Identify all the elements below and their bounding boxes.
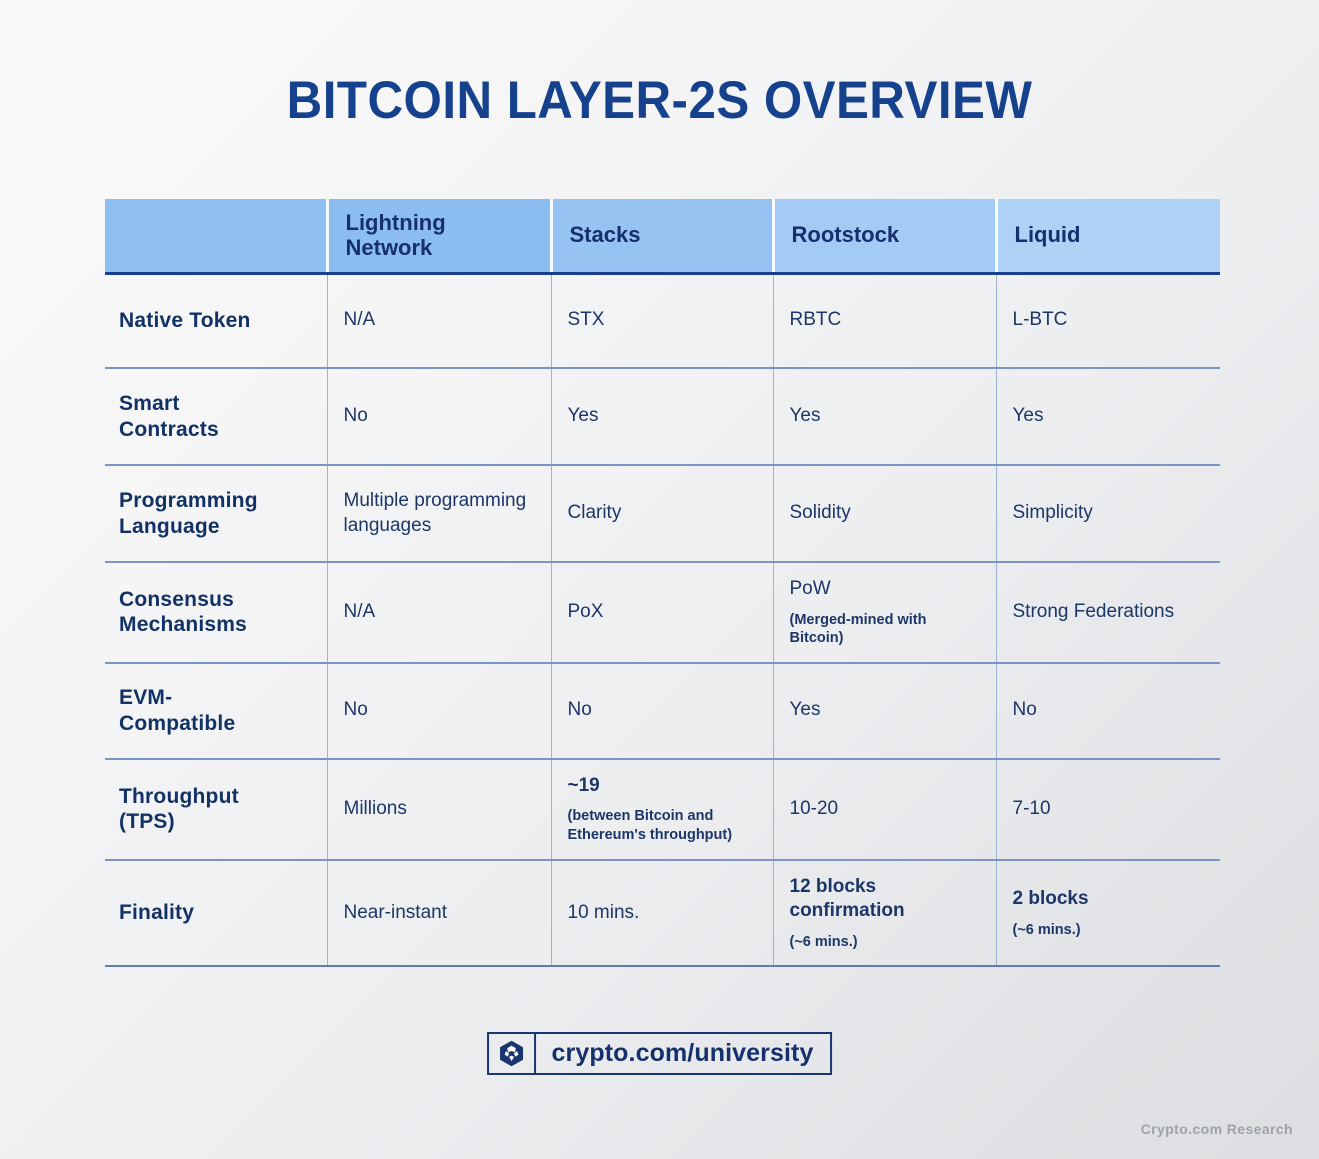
cell-value: Multiple programming languages — [344, 489, 535, 538]
cell-value: RBTC — [790, 308, 980, 333]
cell-evm-rootstock: Yes — [773, 663, 996, 759]
cell-programming-language-stacks: Clarity — [551, 465, 773, 562]
cell-value: 7-10 — [1013, 797, 1205, 822]
cell-finality-lightning: Near-instant — [327, 860, 551, 967]
cell-value: 2 blocks — [1013, 887, 1205, 912]
cell-throughput-lightning: Millions — [327, 759, 551, 860]
row-label-programming-language: Programming Language — [105, 465, 327, 562]
crypto-com-logo-icon — [489, 1034, 536, 1073]
page-title: BITCOIN LAYER-2S OVERVIEW — [46, 70, 1273, 131]
cell-finality-liquid: 2 blocks (~6 mins.) — [996, 860, 1220, 967]
cell-consensus-rootstock: PoW (Merged-mined with Bitcoin) — [773, 562, 996, 663]
column-header-lightning-line2: Network — [346, 235, 433, 260]
cell-value: Yes — [1013, 404, 1205, 429]
cell-subtext: (~6 mins.) — [790, 933, 980, 952]
row-label-line: Mechanisms — [119, 613, 247, 636]
cell-smart-contracts-liquid: Yes — [996, 368, 1220, 465]
cell-smart-contracts-stacks: Yes — [551, 368, 773, 465]
table-header: Lightning Network Stacks Rootstock Liqui… — [105, 199, 1220, 273]
row-label-line: Compatible — [119, 712, 235, 735]
table-row-smart-contracts: Smart Contracts No Yes Yes Yes — [105, 368, 1220, 465]
cell-value: Yes — [790, 404, 980, 429]
table-row-evm-compatible: EVM- Compatible No No Yes No — [105, 663, 1220, 759]
cell-value: ~19 — [568, 774, 757, 799]
table-row-consensus-mechanisms: Consensus Mechanisms N/A PoX PoW (Merged… — [105, 562, 1220, 663]
row-label-line: Smart — [119, 392, 180, 415]
cell-evm-liquid: No — [996, 663, 1220, 759]
cell-throughput-stacks: ~19 (between Bitcoin and Ethereum's thro… — [551, 759, 773, 860]
row-label-finality: Finality — [105, 860, 327, 967]
cell-subtext: (Merged-mined with Bitcoin) — [790, 611, 980, 648]
cell-programming-language-rootstock: Solidity — [773, 465, 996, 562]
row-label-line: Native Token — [119, 309, 251, 332]
row-label-native-token: Native Token — [105, 273, 327, 368]
cell-value: L-BTC — [1013, 308, 1205, 333]
table-row-throughput: Throughput (TPS) Millions ~19 (between B… — [105, 759, 1220, 860]
cell-value: 10-20 — [790, 797, 980, 822]
row-label-line: Language — [119, 515, 220, 538]
cell-value: Yes — [568, 404, 757, 429]
row-label-line: Throughput — [119, 785, 239, 808]
comparison-table-container: Lightning Network Stacks Rootstock Liqui… — [105, 199, 1220, 967]
column-header-rootstock: Rootstock — [773, 199, 996, 273]
cell-value: No — [568, 698, 757, 723]
cell-value: STX — [568, 308, 757, 333]
cell-consensus-lightning: N/A — [327, 562, 551, 663]
cell-value: 10 mins. — [568, 901, 757, 926]
cell-value: Yes — [790, 698, 980, 723]
cell-value: 12 blocks confirmation — [790, 875, 980, 924]
crypto-com-university-badge[interactable]: crypto.com/university — [487, 1032, 833, 1075]
row-label-smart-contracts: Smart Contracts — [105, 368, 327, 465]
row-label-evm-compatible: EVM- Compatible — [105, 663, 327, 759]
table-header-row: Lightning Network Stacks Rootstock Liqui… — [105, 199, 1220, 273]
cell-value: No — [344, 698, 535, 723]
cell-value: Strong Federations — [1013, 600, 1205, 625]
cell-consensus-liquid: Strong Federations — [996, 562, 1220, 663]
column-header-liquid: Liquid — [996, 199, 1220, 273]
cell-throughput-liquid: 7-10 — [996, 759, 1220, 860]
cell-value: N/A — [344, 308, 535, 333]
cell-evm-stacks: No — [551, 663, 773, 759]
cell-value: No — [1013, 698, 1205, 723]
row-label-line: EVM- — [119, 686, 172, 709]
cell-finality-stacks: 10 mins. — [551, 860, 773, 967]
cell-programming-language-lightning: Multiple programming languages — [327, 465, 551, 562]
column-header-lightning-line1: Lightning — [346, 210, 446, 235]
cell-value: Near-instant — [344, 901, 535, 926]
cell-native-token-rootstock: RBTC — [773, 273, 996, 368]
cell-value: Simplicity — [1013, 501, 1205, 526]
row-label-line: (TPS) — [119, 810, 175, 833]
cell-value: Solidity — [790, 501, 980, 526]
cell-native-token-liquid: L-BTC — [996, 273, 1220, 368]
cell-value: No — [344, 404, 535, 429]
crypto-com-university-url[interactable]: crypto.com/university — [536, 1039, 831, 1068]
cell-smart-contracts-rootstock: Yes — [773, 368, 996, 465]
cell-value: Millions — [344, 797, 535, 822]
table-row-programming-language: Programming Language Multiple programmin… — [105, 465, 1220, 562]
cell-evm-lightning: No — [327, 663, 551, 759]
cell-value: Clarity — [568, 501, 757, 526]
row-label-line: Programming — [119, 489, 258, 512]
column-header-lightning-network: Lightning Network — [327, 199, 551, 273]
row-label-line: Contracts — [119, 418, 219, 441]
row-label-throughput: Throughput (TPS) — [105, 759, 327, 860]
column-header-attribute — [105, 199, 327, 273]
cell-value: PoX — [568, 600, 757, 625]
cell-smart-contracts-lightning: No — [327, 368, 551, 465]
row-label-line: Finality — [119, 901, 194, 924]
row-label-line: Consensus — [119, 588, 234, 611]
column-header-stacks: Stacks — [551, 199, 773, 273]
attribution-text: Crypto.com Research — [1141, 1121, 1293, 1137]
row-label-consensus-mechanisms: Consensus Mechanisms — [105, 562, 327, 663]
cell-throughput-rootstock: 10-20 — [773, 759, 996, 860]
cell-native-token-stacks: STX — [551, 273, 773, 368]
cell-value: N/A — [344, 600, 535, 625]
table-row-native-token: Native Token N/A STX RBTC L-BTC — [105, 273, 1220, 368]
cell-value: PoW — [790, 577, 980, 602]
cell-programming-language-liquid: Simplicity — [996, 465, 1220, 562]
cell-native-token-lightning: N/A — [327, 273, 551, 368]
cell-subtext: (between Bitcoin and Ethereum's throughp… — [568, 807, 757, 844]
table-row-finality: Finality Near-instant 10 mins. 12 blocks… — [105, 860, 1220, 967]
cell-consensus-stacks: PoX — [551, 562, 773, 663]
cell-finality-rootstock: 12 blocks confirmation (~6 mins.) — [773, 860, 996, 967]
cell-subtext: (~6 mins.) — [1013, 921, 1205, 940]
bitcoin-layer2-comparison-table: Lightning Network Stacks Rootstock Liqui… — [105, 199, 1220, 967]
table-body: Native Token N/A STX RBTC L-BTC Smart Co… — [105, 273, 1220, 966]
